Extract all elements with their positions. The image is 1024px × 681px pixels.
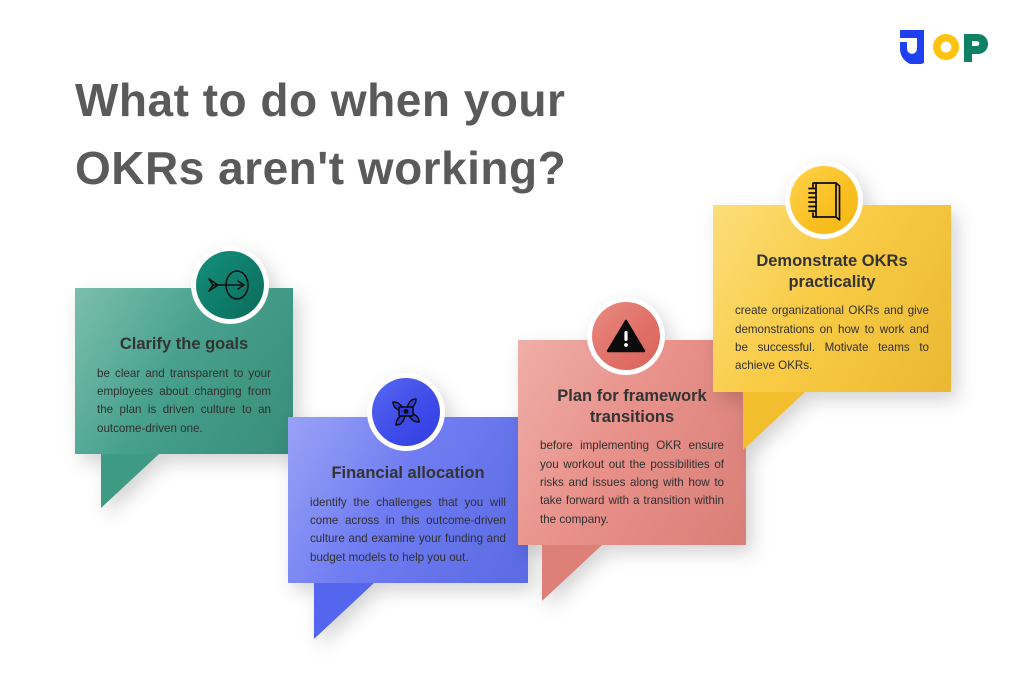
jop-logo [898,28,994,64]
logo-letter-p [964,34,988,62]
page-title-line-1: What to do when your [75,66,715,134]
card-title-blue: Financial allocation [310,463,506,484]
badge-green [191,246,269,324]
card-tail-yellow [743,392,805,450]
card-title-red: Plan for framework transitions [540,386,724,427]
money-pinwheel-icon [372,378,440,446]
page-title-line-2: OKRs aren't working? [75,134,715,202]
card-body-green: Clarify the goals be clear and transpare… [75,288,293,454]
page-title: What to do when your OKRs aren't working… [75,66,715,202]
card-body-blue: Financial allocation identify the challe… [288,417,528,583]
infographic-canvas: What to do when your OKRs aren't working… [0,0,1024,681]
badge-yellow [785,161,863,239]
card-text-green: be clear and transparent to your employe… [97,365,271,438]
logo-letter-j [900,30,924,64]
badge-blue [367,373,445,451]
card-text-blue: identify the challenges that you will co… [310,494,506,567]
card-tail-red [542,545,602,601]
logo-letter-o [933,34,959,60]
notebook-icon [790,166,858,234]
card-body-red: Plan for framework transitions before im… [518,340,746,545]
card-text-yellow: create organizational OKRs and give demo… [735,302,929,375]
warning-triangle-icon [592,302,660,370]
card-demonstrate-okrs-practicality[interactable]: Demonstrate OKRs practicality create org… [713,205,951,392]
card-text-red: before implementing OKR ensure you worko… [540,437,724,529]
card-clarify-the-goals[interactable]: Clarify the goals be clear and transpare… [75,288,293,454]
card-body-yellow: Demonstrate OKRs practicality create org… [713,205,951,392]
card-title-green: Clarify the goals [97,334,271,355]
card-tail-blue [314,583,374,639]
card-title-yellow: Demonstrate OKRs practicality [735,251,929,292]
card-tail-green [101,454,159,508]
card-financial-allocation[interactable]: Financial allocation identify the challe… [288,417,528,583]
card-plan-for-framework-transitions[interactable]: Plan for framework transitions before im… [518,340,746,545]
badge-red [587,297,665,375]
target-arrow-icon [196,251,264,319]
